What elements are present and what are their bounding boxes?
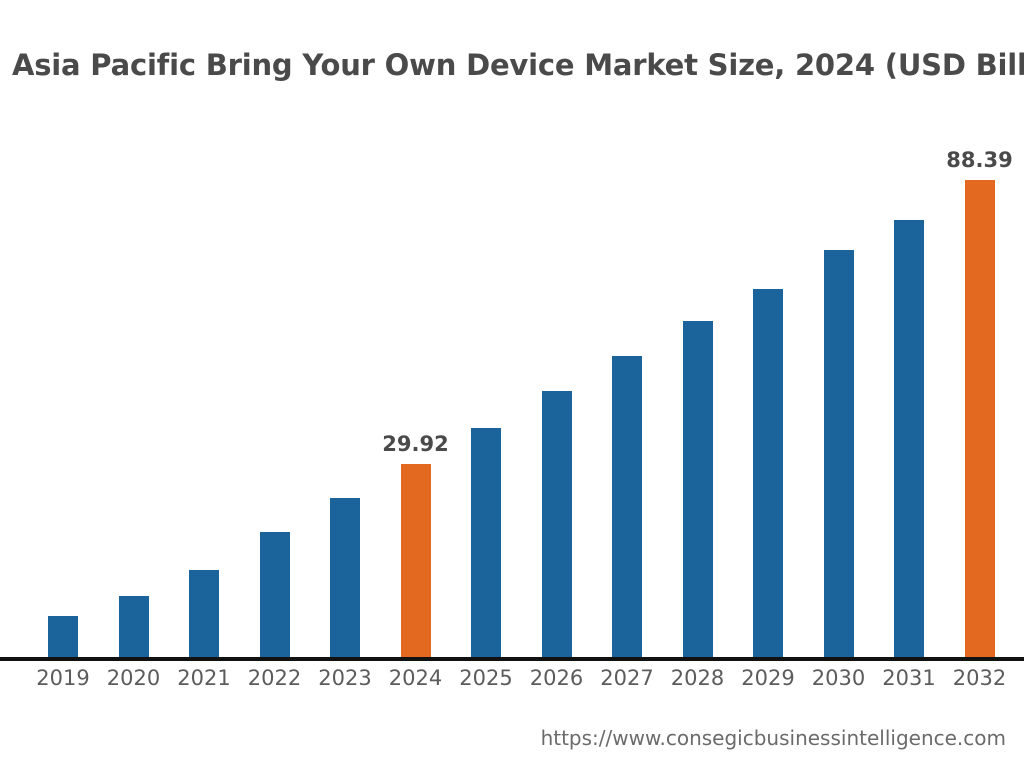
x-tick-label-2024: 2024	[381, 666, 451, 690]
bar-2030[interactable]	[824, 250, 854, 658]
x-tick-label-2030: 2030	[804, 666, 874, 690]
bar-group-2021	[169, 111, 239, 658]
x-tick-label-2029: 2029	[733, 666, 803, 690]
bar-2021[interactable]	[189, 570, 219, 658]
bar-group-2020	[99, 111, 169, 658]
bar-2024[interactable]	[401, 464, 431, 658]
bar-group-2032: 88.39	[945, 111, 1015, 658]
bar-2019[interactable]	[48, 616, 78, 658]
bar-group-2024: 29.92	[381, 111, 451, 658]
x-tick-label-2020: 2020	[99, 666, 169, 690]
x-axis-line	[0, 657, 1024, 661]
x-tick-label-2026: 2026	[522, 666, 592, 690]
bar-value-label-2032: 88.39	[940, 148, 1020, 172]
bar-group-2031	[874, 111, 944, 658]
bar-2032[interactable]	[965, 180, 995, 658]
bar-2022[interactable]	[260, 532, 290, 658]
x-tick-label-2027: 2027	[592, 666, 662, 690]
bar-2025[interactable]	[471, 428, 501, 658]
x-tick-label-2025: 2025	[451, 666, 521, 690]
chart-figure: Asia Pacific Bring Your Own Device Marke…	[0, 0, 1024, 768]
chart-title: Asia Pacific Bring Your Own Device Marke…	[12, 48, 1012, 83]
bar-group-2023	[310, 111, 380, 658]
bar-group-2019	[28, 111, 98, 658]
x-tick-label-2021: 2021	[169, 666, 239, 690]
bar-2020[interactable]	[119, 596, 149, 658]
x-tick-label-2022: 2022	[240, 666, 310, 690]
x-tick-label-2023: 2023	[310, 666, 380, 690]
bar-2031[interactable]	[894, 220, 924, 658]
x-axis-tick-labels: 2019202020212022202320242025202620272028…	[0, 666, 1024, 700]
plot-area: 29.9288.39	[0, 110, 1024, 658]
source-url-text: https://www.consegicbusinessintelligence…	[541, 726, 1006, 750]
bar-2026[interactable]	[542, 391, 572, 658]
bar-2027[interactable]	[612, 356, 642, 658]
bar-group-2022	[240, 111, 310, 658]
x-tick-label-2032: 2032	[945, 666, 1015, 690]
bar-group-2027	[592, 111, 662, 658]
bar-value-label-2024: 29.92	[376, 432, 456, 456]
bar-2029[interactable]	[753, 289, 783, 658]
bar-group-2029	[733, 111, 803, 658]
bar-group-2026	[522, 111, 592, 658]
x-tick-label-2019: 2019	[28, 666, 98, 690]
x-tick-label-2028: 2028	[663, 666, 733, 690]
bar-group-2028	[663, 111, 733, 658]
x-tick-label-2031: 2031	[874, 666, 944, 690]
bar-group-2025	[451, 111, 521, 658]
bar-group-2030	[804, 111, 874, 658]
bar-2023[interactable]	[330, 498, 360, 658]
bar-2028[interactable]	[683, 321, 713, 658]
